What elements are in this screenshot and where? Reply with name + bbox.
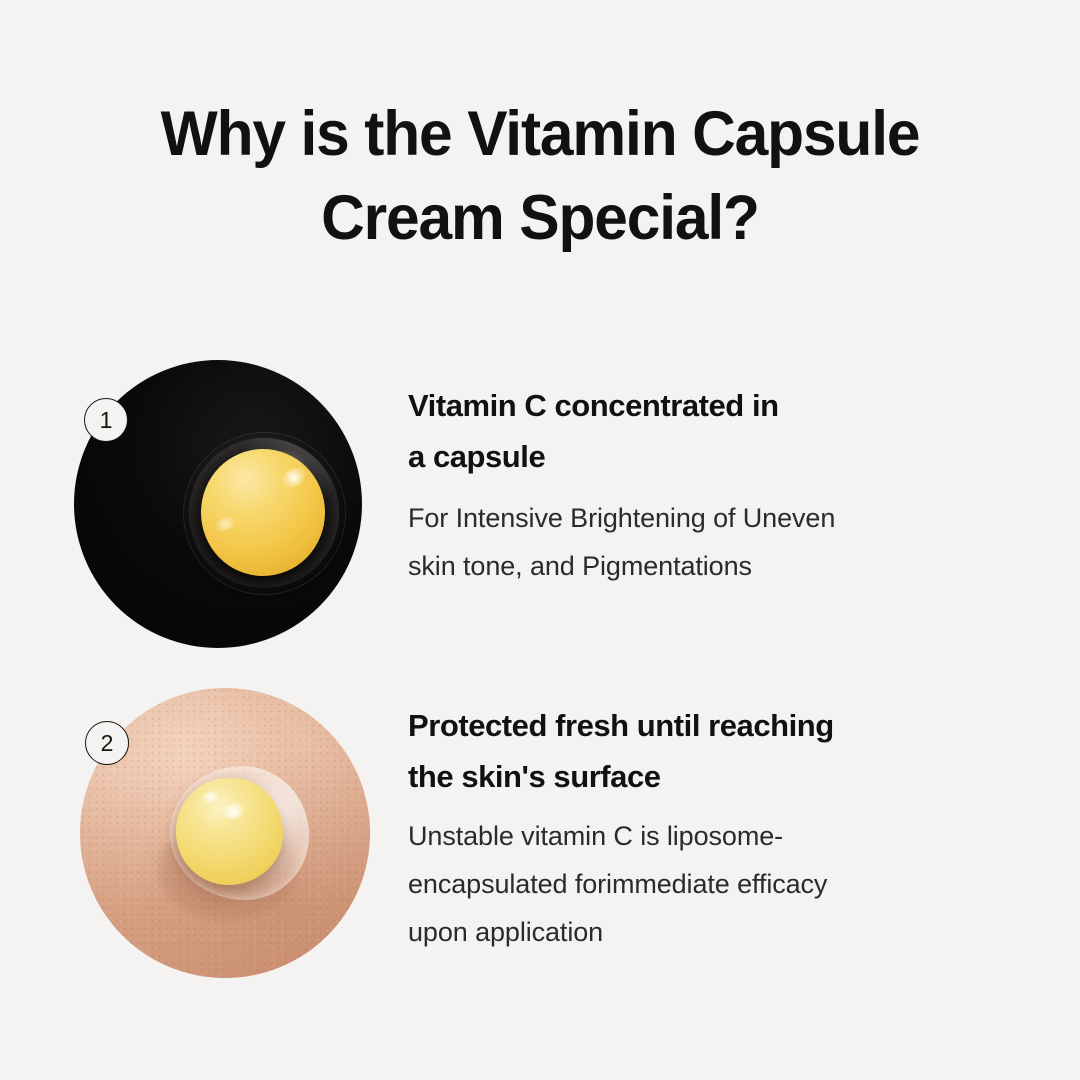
feature-block-1: 1 Vitamin C concentrated in a capsule Fo… bbox=[0, 360, 1080, 660]
feature-1-title: Vitamin C concentrated in a capsule bbox=[408, 380, 1008, 482]
feature-1-copy: Vitamin C concentrated in a capsule For … bbox=[408, 380, 1008, 590]
feature-card: Why is the Vitamin Capsule Cream Special… bbox=[0, 0, 1080, 1080]
capsule-core bbox=[201, 449, 325, 576]
feature-2-copy: Protected fresh until reaching the skin'… bbox=[408, 700, 1008, 956]
feature-2-title: Protected fresh until reaching the skin'… bbox=[408, 700, 1008, 802]
step-badge-1: 1 bbox=[84, 398, 128, 442]
liposome-core bbox=[176, 778, 283, 885]
feature-block-2: 2 Protected fresh until reaching the ski… bbox=[0, 688, 1080, 988]
page-title: Why is the Vitamin Capsule Cream Special… bbox=[79, 92, 1001, 260]
step-badge-2: 2 bbox=[85, 721, 129, 765]
feature-2-body: Unstable vitamin C is liposome- encapsul… bbox=[408, 812, 1008, 956]
feature-1-body: For Intensive Brightening of Uneven skin… bbox=[408, 494, 1008, 590]
